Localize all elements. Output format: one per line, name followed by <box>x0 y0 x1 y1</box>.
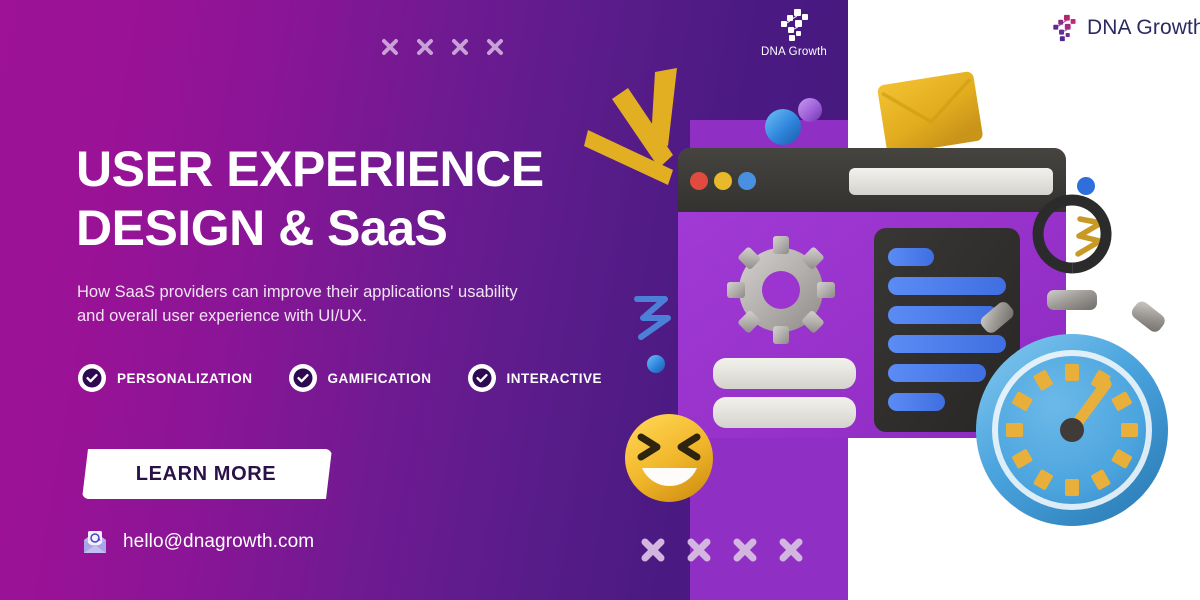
x-mark-icon <box>640 537 666 563</box>
email-text: hello@dnagrowth.com <box>123 531 314 553</box>
feature-label: PERSONALIZATION <box>117 371 253 386</box>
background-lilac-panel <box>690 120 848 600</box>
x-mark-icon <box>486 38 504 56</box>
dna-growth-mark-icon <box>1050 14 1078 42</box>
decor-x-row-top <box>381 38 504 56</box>
logo-right[interactable]: DNA Growth <box>1050 14 1200 42</box>
feature-item-interactive: INTERACTIVE <box>468 364 603 392</box>
subtitle: How SaaS providers can improve their app… <box>77 280 547 328</box>
x-mark-icon <box>732 537 758 563</box>
logo-left[interactable]: DNA Growth <box>750 8 838 58</box>
headline-line-1: USER EXPERIENCE <box>76 141 544 197</box>
x-mark-icon <box>416 38 434 56</box>
x-mark-icon <box>778 537 804 563</box>
logo-left-text: DNA Growth <box>761 46 827 58</box>
headline-line-2: DESIGN & SaaS <box>76 199 616 258</box>
feature-label: INTERACTIVE <box>507 371 603 386</box>
check-circle-icon <box>468 364 496 392</box>
x-mark-icon <box>381 38 399 56</box>
x-mark-icon <box>686 537 712 563</box>
envelope-at-icon <box>80 527 110 557</box>
feature-item-gamification: GAMIFICATION <box>289 364 432 392</box>
subtitle-line-1: How SaaS providers can improve their app… <box>77 283 453 301</box>
check-circle-icon <box>78 364 106 392</box>
logo-right-text: DNA Growth <box>1087 16 1200 40</box>
feature-item-personalization: PERSONALIZATION <box>78 364 253 392</box>
background-right-white <box>848 0 1200 600</box>
dna-growth-mark-icon <box>777 8 811 42</box>
check-circle-icon <box>289 364 317 392</box>
feature-list: PERSONALIZATION GAMIFICATION INTERACTIVE <box>78 364 602 392</box>
cta-label: LEARN MORE <box>82 449 332 499</box>
contact-email[interactable]: hello@dnagrowth.com <box>80 527 314 557</box>
decor-x-row-bottom <box>640 537 804 563</box>
x-mark-icon <box>451 38 469 56</box>
marketing-banner: DNA Growth DNA Growth USER EXPERIENCE <box>0 0 1200 600</box>
feature-label: GAMIFICATION <box>328 371 432 386</box>
page-title: USER EXPERIENCE DESIGN & SaaS <box>76 140 616 258</box>
learn-more-button[interactable]: LEARN MORE <box>82 449 332 499</box>
